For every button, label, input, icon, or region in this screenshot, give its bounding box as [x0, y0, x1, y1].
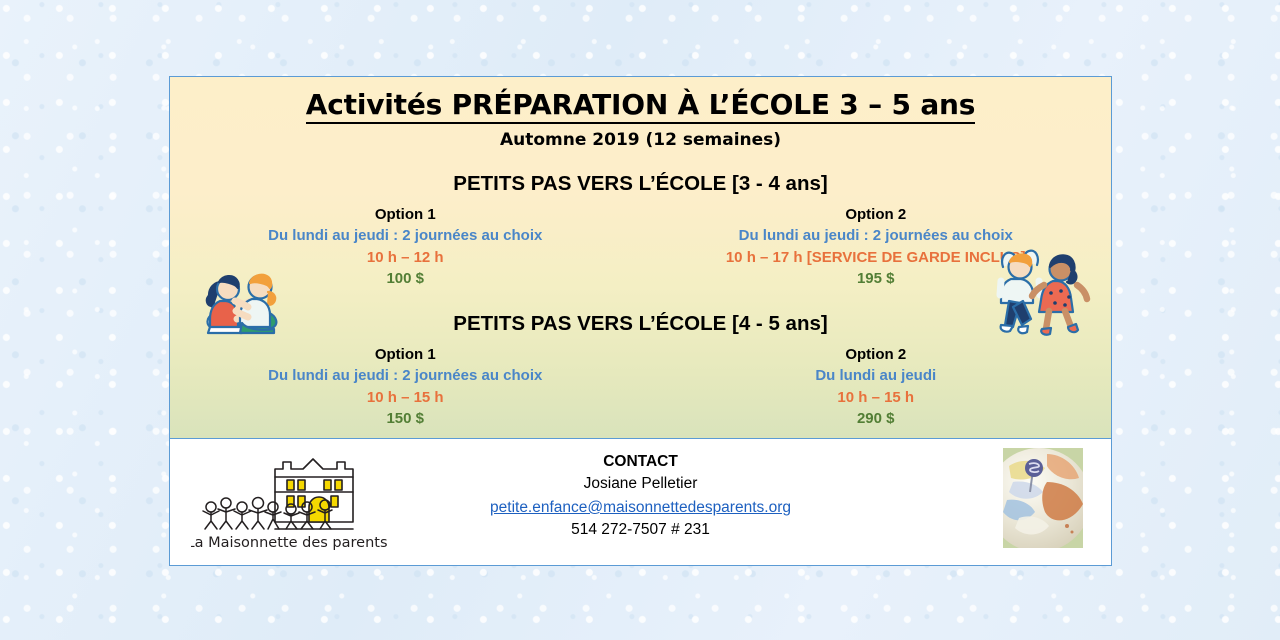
option-column-2: Option 2 Du lundi au jeudi 10 h – 15 h 2…: [641, 344, 1112, 430]
options-row: Option 1 Du lundi au jeudi : 2 journées …: [170, 344, 1111, 430]
option-price: 290 $: [641, 408, 1112, 429]
poster-main-panel: Activités PRÉPARATION À L’ÉCOLE 3 – 5 an…: [170, 77, 1111, 439]
page-subtitle: Automne 2019 (12 semaines): [170, 130, 1111, 150]
section-heading: PETITS PAS VERS L’ÉCOLE [3 - 4 ans]: [170, 172, 1111, 196]
section-heading: PETITS PAS VERS L’ÉCOLE [4 - 5 ans]: [170, 312, 1111, 336]
contact-block: CONTACT Josiane Pelletier petite.enfance…: [170, 451, 1111, 542]
contact-name: Josiane Pelletier: [170, 473, 1111, 495]
option-label: Option 1: [170, 344, 641, 365]
option-days: Du lundi au jeudi: [641, 365, 1112, 386]
section-petits-pas-3-4: PETITS PAS VERS L’ÉCOLE [3 - 4 ans] Opti…: [170, 172, 1111, 290]
two-children-playing-illustration: [192, 235, 296, 335]
two-children-jumping-illustration: [989, 237, 1093, 337]
option-label: Option 1: [170, 204, 641, 225]
contact-title: CONTACT: [170, 451, 1111, 473]
option-days: Du lundi au jeudi : 2 journées au choix: [170, 365, 641, 386]
page-title: Activités PRÉPARATION À L’ÉCOLE 3 – 5 an…: [170, 77, 1111, 121]
option-hours: 10 h – 15 h: [170, 387, 641, 408]
section-petits-pas-4-5: PETITS PAS VERS L’ÉCOLE [4 - 5 ans] Opti…: [170, 312, 1111, 430]
option-column-1: Option 1 Du lundi au jeudi : 2 journées …: [170, 344, 641, 430]
contact-email-link[interactable]: petite.enfance@maisonnettedesparents.org: [490, 497, 791, 519]
option-label: Option 2: [641, 344, 1112, 365]
option-hours: 10 h – 15 h: [641, 387, 1112, 408]
option-label: Option 2: [641, 204, 1112, 225]
contact-phone: 514 272-7507 # 231: [170, 519, 1111, 541]
option-price: 150 $: [170, 408, 641, 429]
options-row: Option 1 Du lundi au jeudi : 2 journées …: [170, 204, 1111, 290]
poster-footer: La Maisonnette des parents CONTACT Josia…: [170, 439, 1111, 565]
watercolor-globe-signpost-image: [1003, 448, 1083, 548]
poster-frame: Activités PRÉPARATION À L’ÉCOLE 3 – 5 an…: [169, 76, 1112, 566]
